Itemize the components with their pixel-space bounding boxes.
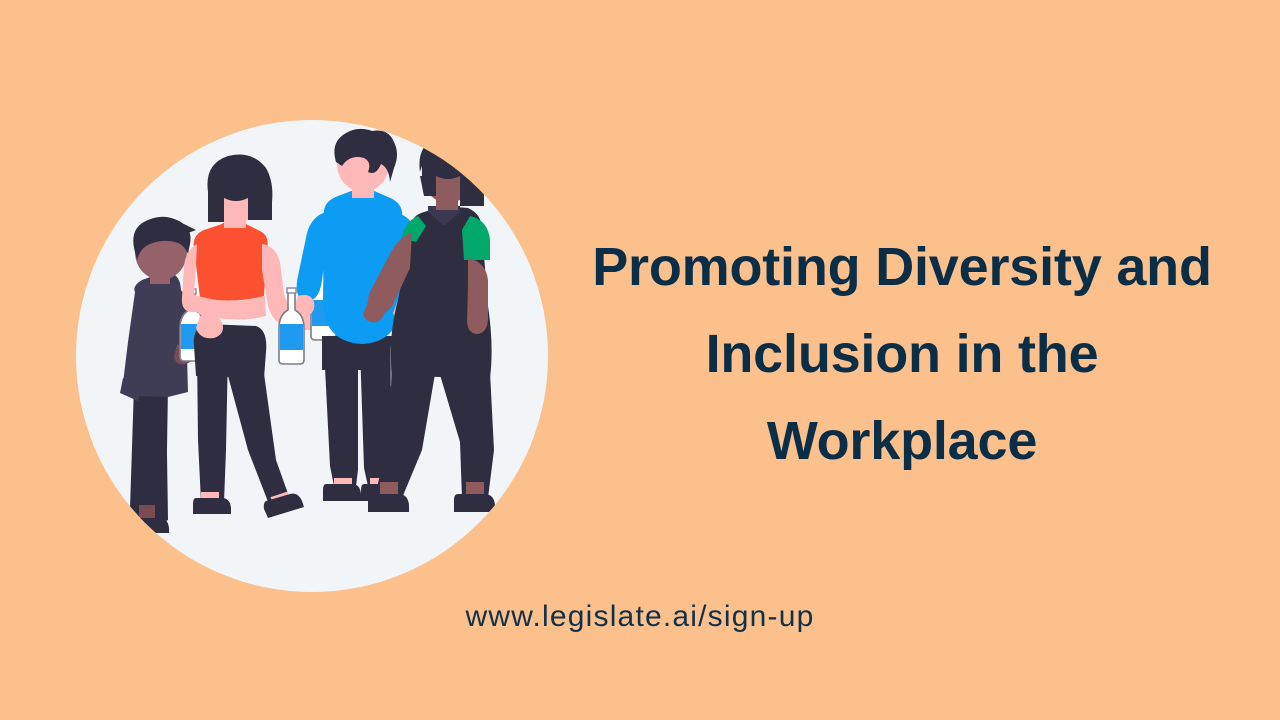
bottle-3-liquid bbox=[280, 324, 303, 350]
figure-4-shoe-right bbox=[454, 494, 495, 512]
figure-4-shoe-left bbox=[368, 494, 409, 512]
figure-3-shoe-left bbox=[323, 484, 361, 501]
illustration-four-colleagues bbox=[76, 120, 548, 592]
headline-block: Promoting Diversity and Inclusion in the… bbox=[588, 224, 1216, 485]
signup-url[interactable]: www.legislate.ai/sign-up bbox=[340, 600, 940, 634]
figure-2-top bbox=[194, 224, 268, 301]
figure-1-shoe bbox=[128, 518, 169, 533]
page-title: Promoting Diversity and Inclusion in the… bbox=[588, 224, 1216, 485]
figure-2-shoe-left bbox=[193, 498, 231, 514]
slide-canvas: Promoting Diversity and Inclusion in the… bbox=[0, 0, 1280, 720]
